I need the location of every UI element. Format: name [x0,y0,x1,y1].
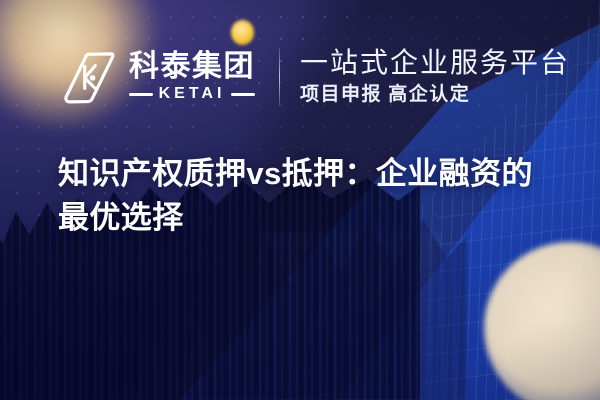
wordmark-rule-left [129,93,153,96]
page-title: 知识产权质押vs抵押：企业融资的最优选择 [58,152,558,240]
header-divider [279,48,280,106]
promo-banner: 科泰集团 KETAI 一站式企业服务平台 项目申报 高企认定 知识产权质押vs抵… [0,0,600,400]
brand-name-en-row: KETAI [129,85,255,103]
ketai-diamond-kp-monogram-icon [62,49,118,105]
tagline-sub: 项目申报 高企认定 [300,85,570,106]
banner-header: 科泰集团 KETAI 一站式企业服务平台 项目申报 高企认定 [0,38,600,116]
wordmark-rule-right [231,93,255,96]
brand-logo[interactable]: 科泰集团 KETAI [62,49,255,105]
brand-name-cn: 科泰集团 [129,51,255,83]
brand-wordmark: 科泰集团 KETAI [129,51,255,104]
brand-name-en: KETAI [159,85,226,103]
tagline-main: 一站式企业服务平台 [300,48,570,79]
tagline-block: 一站式企业服务平台 项目申报 高企认定 [300,48,570,105]
